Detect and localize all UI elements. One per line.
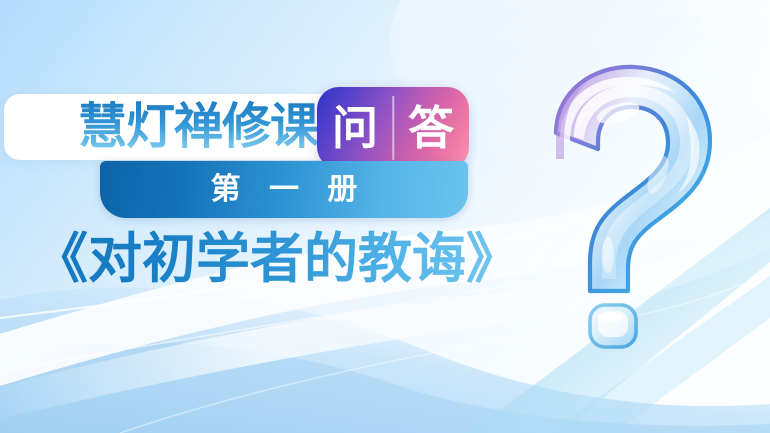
question-mark-icon <box>498 55 748 355</box>
qa-badge-char-question: 问 <box>317 105 393 151</box>
subtitle: 《对初学者的教诲》 <box>34 226 520 292</box>
volume-label: 第 一 册 <box>201 175 368 205</box>
qa-badge-char-answer: 答 <box>393 105 469 151</box>
volume-banner: 第 一 册 <box>100 161 468 218</box>
qa-badge: 问 答 <box>317 87 469 169</box>
promo-banner: 慧灯禅修课 问 答 第 一 册 《对初学者的教诲》 <box>0 0 770 433</box>
page-title: 慧灯禅修课 <box>78 94 318 160</box>
question-mark-glass-art <box>498 55 748 355</box>
